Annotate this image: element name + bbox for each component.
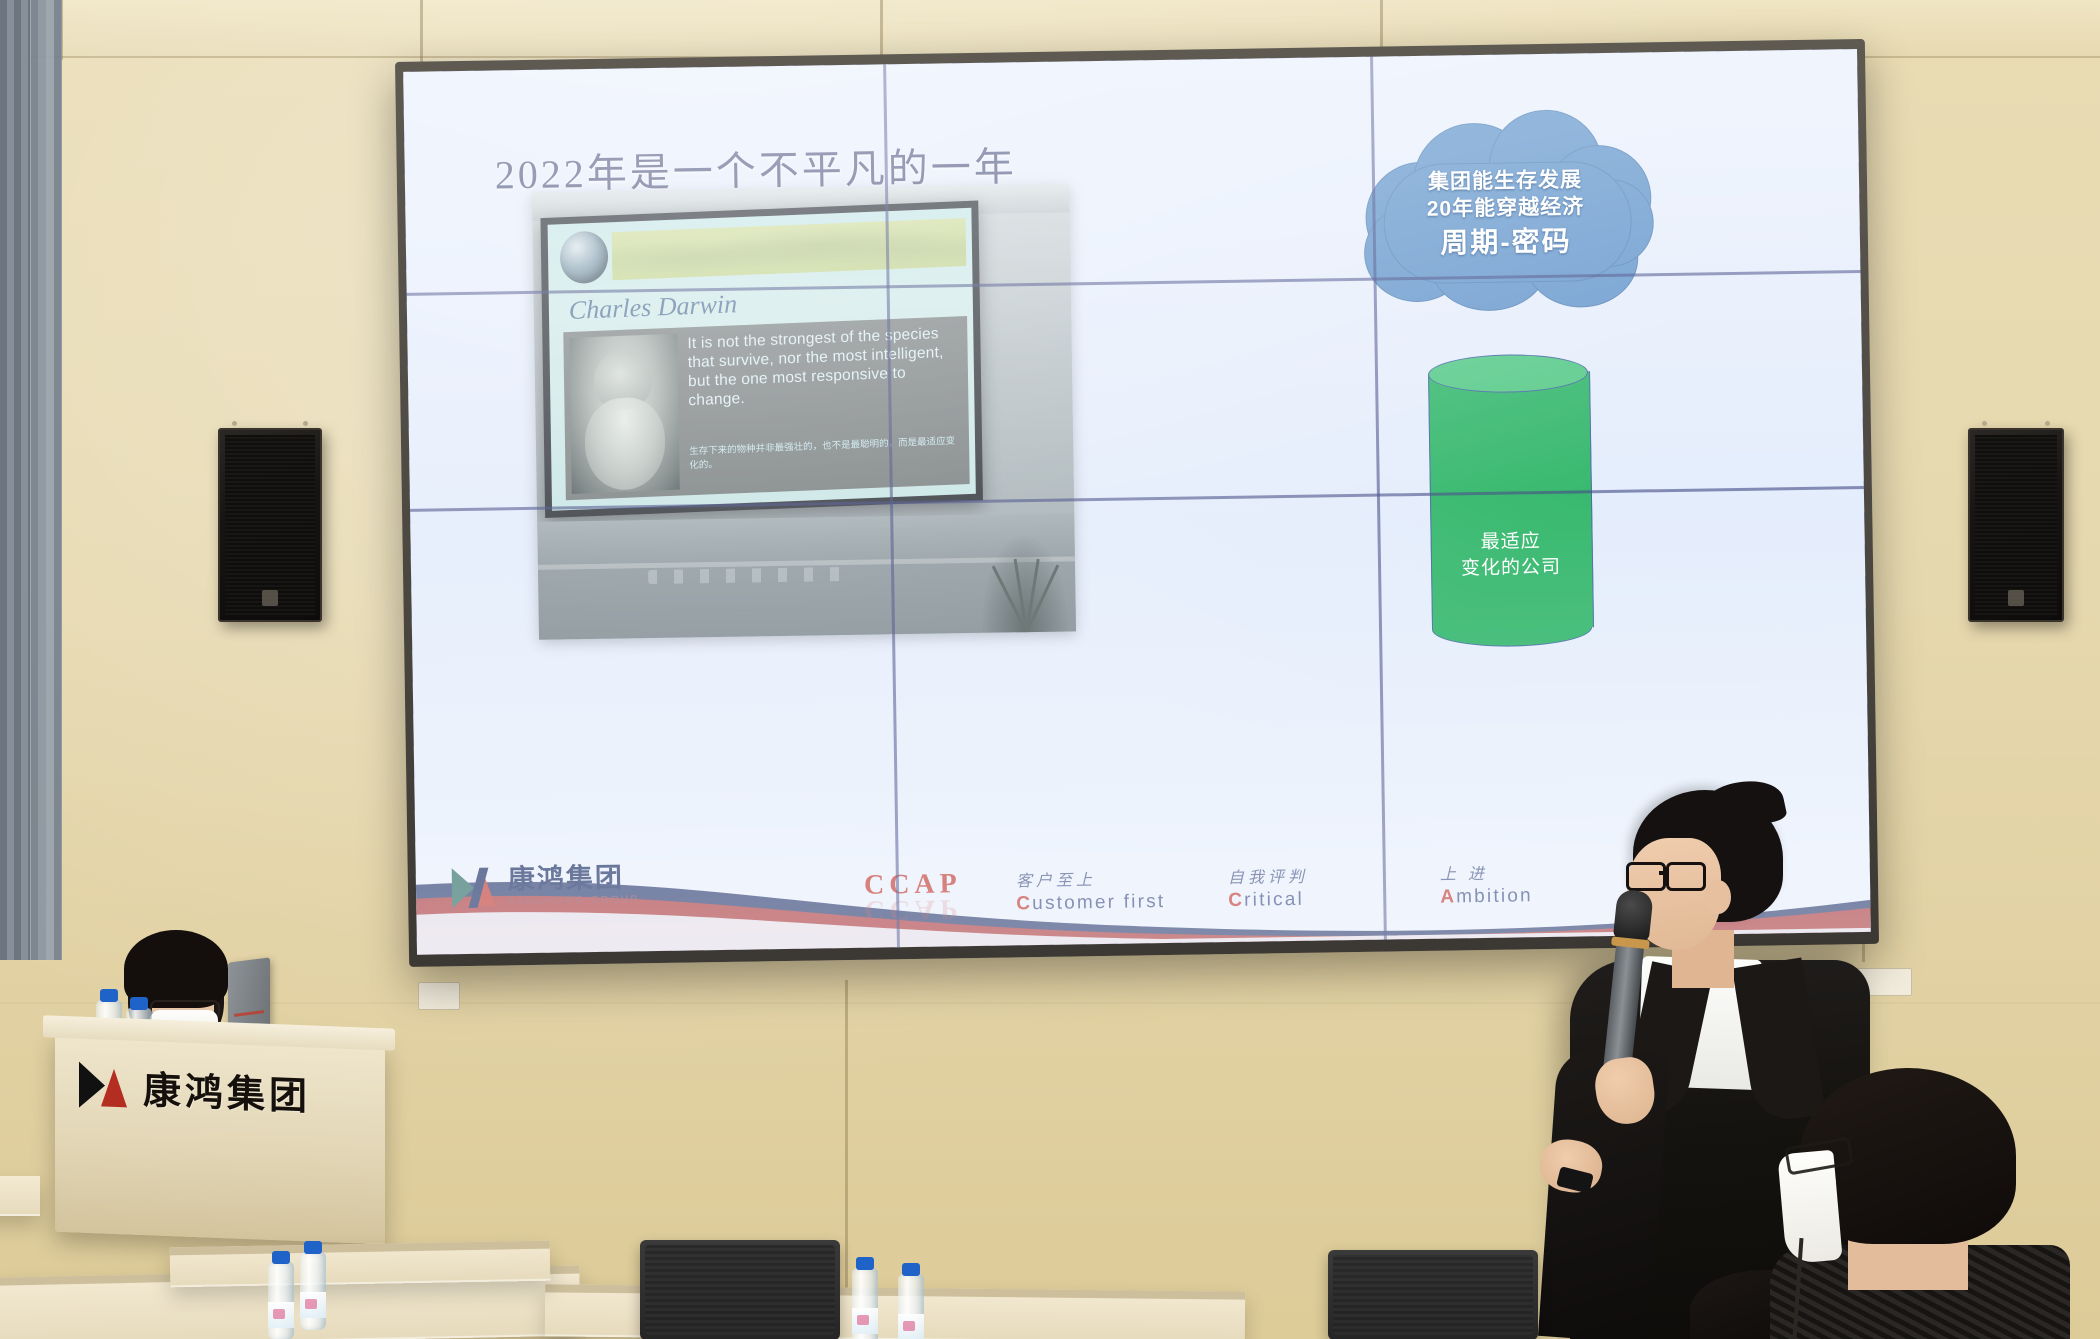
conference-room-scene: 2022年是一个不平凡的一年 Charles Darwin: [0, 0, 2100, 1339]
podium-logo: 康鸿集团: [79, 1057, 311, 1121]
kanghong-logo-icon: [79, 1061, 131, 1109]
speaker-screw: [2045, 421, 2050, 426]
logo-chinese-name: 康鸿集团: [508, 864, 640, 893]
wall-panel-seam: [845, 980, 848, 1339]
presenter-ear: [1705, 880, 1731, 914]
glasses-bridge: [1659, 871, 1669, 875]
speaker-grille: [1975, 435, 2057, 615]
bottle-label: [852, 1308, 878, 1334]
cloud-line-2: 20年能穿越经济: [1427, 195, 1585, 220]
embedded-photo-of-projector-screen: Charles Darwin It is not the strongest o…: [532, 184, 1076, 639]
kanghong-logo-icon: [452, 867, 499, 908]
ccap-reflection: CCAP: [864, 892, 962, 926]
darwin-name-label: Charles Darwin: [569, 289, 738, 326]
photo-plant: [981, 536, 1068, 633]
microphone-head: [1613, 889, 1654, 942]
chair: [1328, 1250, 1538, 1339]
water-bottle: [852, 1268, 878, 1339]
darwin-quote-box: It is not the strongest of the species t…: [563, 316, 969, 500]
window-curtain-fold: [0, 0, 30, 960]
bottle-cap: [856, 1257, 874, 1270]
speaker-badge: [262, 590, 278, 606]
bottle-label: [898, 1314, 924, 1339]
cloud-text: 集团能生存发展 20年能穿越经济 周期-密码: [1355, 166, 1656, 262]
photo-slide-header-band: [612, 218, 967, 280]
thought-cloud-shape: 集团能生存发展 20年能穿越经济 周期-密码: [1354, 104, 1657, 314]
logo-english-name: KANGHONG GROUP: [508, 894, 640, 907]
wall-panel-seam: [420, 0, 423, 62]
wall-outlet-plate: [418, 982, 460, 1010]
water-bottle: [268, 1262, 294, 1339]
conference-table-left: [0, 1176, 40, 1216]
bottle-cap: [130, 997, 148, 1010]
cylinder-line-2: 变化的公司: [1461, 556, 1561, 579]
bottle-label: [300, 1292, 326, 1318]
portrait-beard: [584, 396, 665, 491]
bottle-cap: [100, 989, 118, 1002]
photo-screen-frame: Charles Darwin It is not the strongest o…: [540, 201, 982, 519]
cylinder-line-1: 最适应: [1481, 531, 1541, 553]
podium: 康鸿集团: [55, 1032, 385, 1245]
speaker-grille: [225, 435, 315, 615]
darwin-quote-chinese: 生存下来的物种并非最强壮的，也不是最聪明的，而是最适应变化的。: [689, 434, 957, 473]
presenter-glasses-icon: [1626, 862, 1704, 886]
water-bottle: [898, 1274, 924, 1339]
bottle-cap: [902, 1263, 920, 1276]
wall-speaker-right: [1968, 428, 2064, 622]
darwin-portrait: [569, 334, 679, 494]
logo-text-group: 康鸿集团 KANGHONG GROUP: [508, 864, 640, 907]
speaker-screw: [232, 421, 237, 426]
bottle-cap: [272, 1251, 290, 1264]
glasses-lens-left: [1626, 862, 1666, 891]
speaker-screw: [1982, 421, 1987, 426]
wall-speaker-left: [218, 428, 322, 622]
speaker-screw: [303, 421, 308, 426]
chair: [640, 1240, 840, 1339]
podium-logo-text: 康鸿集团: [143, 1059, 311, 1120]
cylinder-body: [1428, 371, 1594, 630]
cylinder-text: 最适应 变化的公司: [1430, 528, 1591, 582]
bottle-label: [268, 1302, 294, 1328]
globe-icon: [560, 230, 609, 284]
cloud-line-1: 集团能生存发展: [1428, 168, 1582, 193]
logo-a-shape: [101, 1068, 127, 1107]
speaker-badge: [2008, 590, 2024, 606]
water-bottle: [300, 1252, 326, 1330]
glasses-lens-right: [1666, 862, 1706, 891]
green-cylinder-shape: 最适应 变化的公司: [1428, 353, 1593, 647]
conference-table-rear: [170, 1241, 551, 1288]
slide-logo: 康鸿集团 KANGHONG GROUP: [452, 864, 640, 908]
photo-screen-surface: Charles Darwin It is not the strongest o…: [548, 208, 976, 511]
darwin-quote-english: It is not the strongest of the species t…: [687, 324, 960, 411]
cloud-line-3: 周期-密码: [1356, 222, 1657, 263]
bottle-cap: [304, 1241, 322, 1254]
